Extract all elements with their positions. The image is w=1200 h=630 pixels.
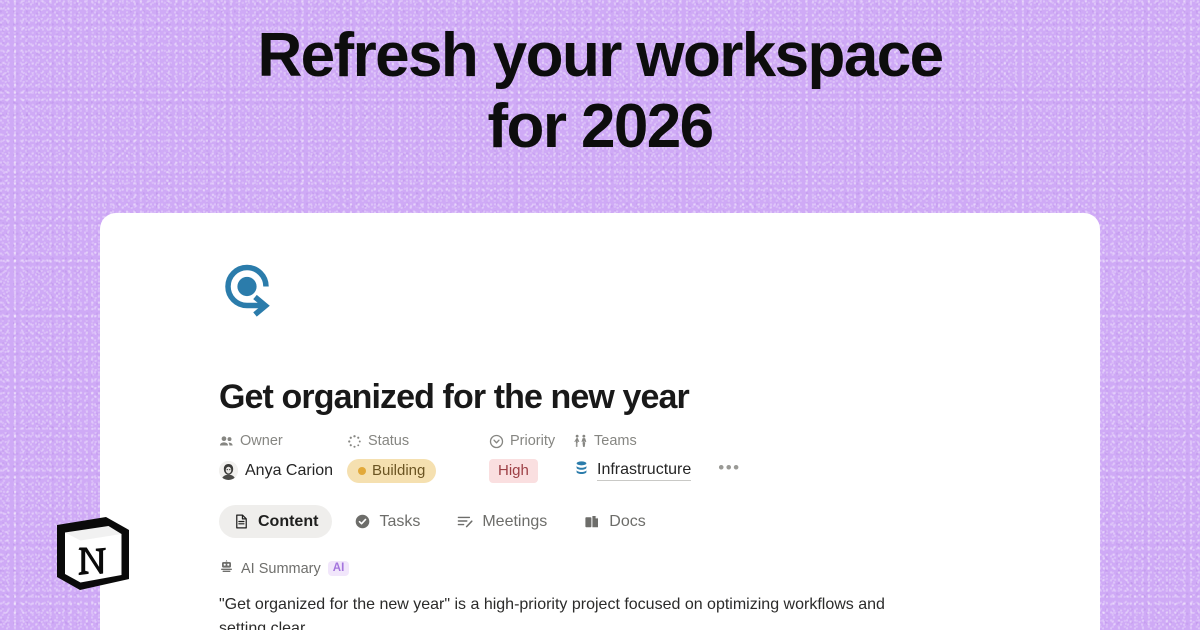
tab-label-tasks: Tasks xyxy=(379,513,420,531)
check-circle-icon xyxy=(354,513,371,530)
more-options-button[interactable]: ••• xyxy=(718,459,740,482)
tab-docs[interactable]: Docs xyxy=(569,505,659,538)
notion-cube-logo-icon xyxy=(50,511,135,596)
spinner-icon xyxy=(347,434,362,449)
owner-name: Anya Carion xyxy=(245,462,333,480)
document-icon xyxy=(233,513,250,530)
property-header-priority: Priority xyxy=(489,431,573,451)
people-icon xyxy=(219,434,234,449)
property-label-priority: Priority xyxy=(510,433,555,449)
tab-tasks[interactable]: Tasks xyxy=(340,505,434,538)
priority-icon xyxy=(489,434,504,449)
product-card: Get organized for the new year Owner xyxy=(100,213,1100,630)
tab-meetings[interactable]: Meetings xyxy=(442,505,561,538)
hero-headline: Refresh your workspace for 2026 xyxy=(0,20,1200,162)
tab-bar: Content Tasks Meetings xyxy=(219,505,1100,538)
status-dot-icon xyxy=(358,467,366,475)
status-badge[interactable]: Building xyxy=(347,459,436,483)
avatar xyxy=(219,461,238,480)
tab-label-meetings: Meetings xyxy=(482,513,547,531)
database-icon xyxy=(573,460,590,482)
status-label: Building xyxy=(372,463,425,478)
hero-line-1: Refresh your workspace xyxy=(0,20,1200,91)
property-value-priority[interactable]: High xyxy=(489,456,573,485)
property-header-status: Status xyxy=(347,431,489,451)
tab-label-docs: Docs xyxy=(609,513,645,531)
robot-icon xyxy=(219,559,234,578)
ai-badge: AI xyxy=(328,561,350,577)
circular-arrow-logo-icon xyxy=(219,258,1100,324)
properties-grid: Owner Status xyxy=(219,431,1100,485)
property-label-owner: Owner xyxy=(240,433,283,449)
project-title: Get organized for the new year xyxy=(219,377,1100,417)
property-label-status: Status xyxy=(368,433,409,449)
ai-summary-label: AI Summary xyxy=(241,561,321,577)
property-header-teams: Teams xyxy=(573,431,1100,451)
docs-icon xyxy=(583,513,601,531)
ai-summary-block: AI Summary AI "Get organized for the new… xyxy=(219,559,1100,630)
team-name[interactable]: Infrastructure xyxy=(597,461,691,481)
property-value-owner[interactable]: Anya Carion xyxy=(219,456,347,485)
hero-line-2: for 2026 xyxy=(0,91,1200,162)
property-label-teams: Teams xyxy=(594,433,637,449)
ai-summary-header: AI Summary AI xyxy=(219,559,1100,578)
tab-label-content: Content xyxy=(258,513,318,531)
property-value-teams[interactable]: Infrastructure ••• xyxy=(573,456,1100,485)
ai-summary-text: "Get organized for the new year" is a hi… xyxy=(219,593,934,630)
tab-content[interactable]: Content xyxy=(219,505,332,538)
meetings-icon xyxy=(456,513,474,531)
property-header-owner: Owner xyxy=(219,431,347,451)
property-value-status[interactable]: Building xyxy=(347,456,489,485)
priority-badge[interactable]: High xyxy=(489,459,538,483)
teams-icon xyxy=(573,434,588,449)
